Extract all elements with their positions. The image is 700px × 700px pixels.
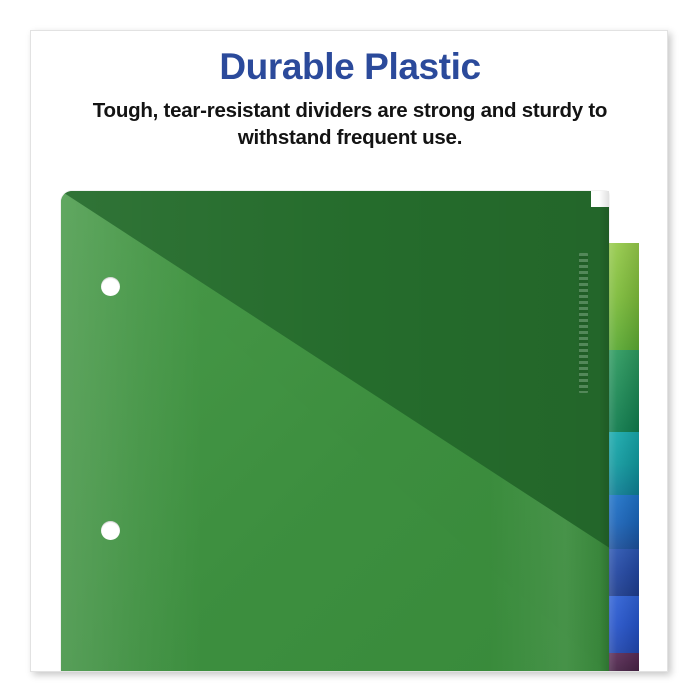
subtitle-text: Tough, tear-resistant dividers are stron… xyxy=(60,97,640,151)
plastic-pocket-divider xyxy=(61,191,609,672)
headline-block: Durable Plastic Tough, tear-resistant di… xyxy=(31,45,668,151)
page-title: Durable Plastic xyxy=(31,45,668,89)
punch-hole-upper xyxy=(101,277,120,296)
top-right-notch xyxy=(591,191,609,207)
punch-hole-lower xyxy=(101,521,120,540)
product-image-card: Durable Plastic Tough, tear-resistant di… xyxy=(30,30,668,672)
perforated-strip-icon xyxy=(579,253,588,393)
screenshot-root: Durable Plastic Tough, tear-resistant di… xyxy=(0,0,700,700)
